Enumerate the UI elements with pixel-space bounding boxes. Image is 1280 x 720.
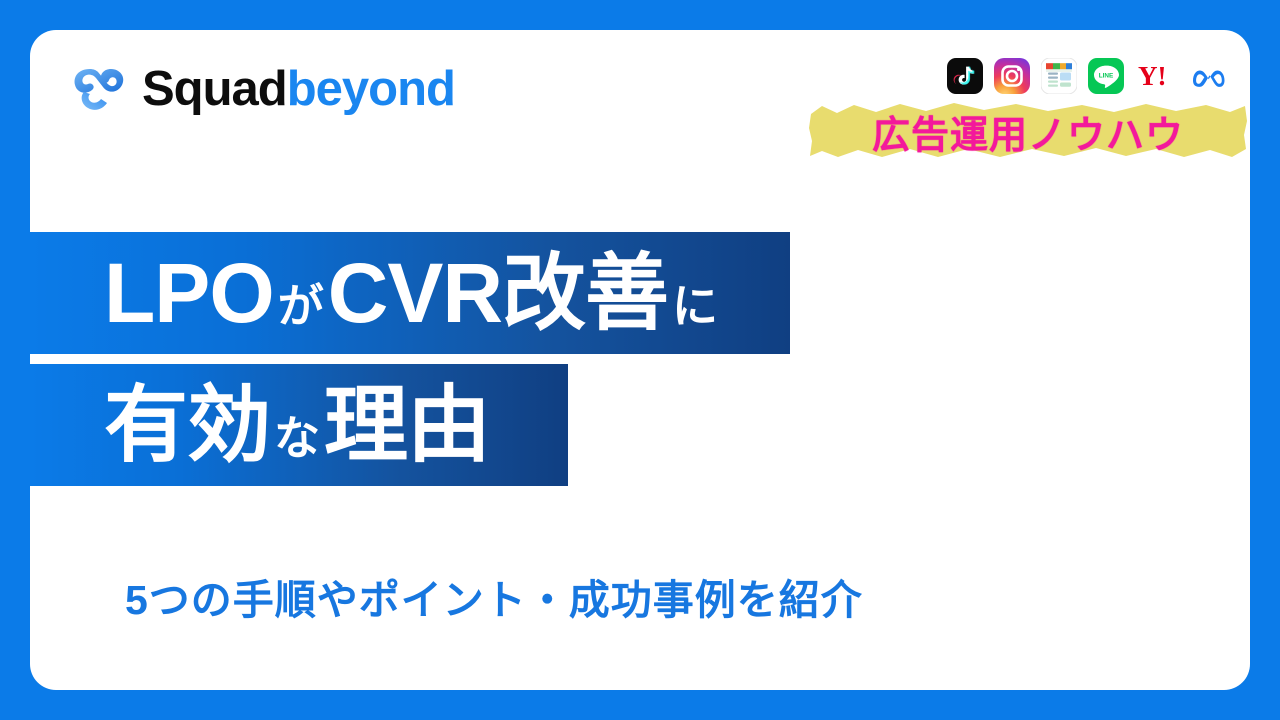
headline-line1-particle2: に <box>668 283 722 329</box>
yahoo-icon: Y! <box>1135 58 1177 94</box>
headline-line1-part2: CVR改善 <box>328 251 668 335</box>
svg-text:Y!: Y! <box>1138 61 1167 91</box>
subtitle-text: 5つの手順やポイント・成功事例を紹介 <box>125 566 863 626</box>
headline-bar-line1: LPO が CVR改善 に <box>30 232 790 354</box>
category-badge: 広告運用ノウハウ <box>808 101 1248 161</box>
logo-wordmark: Squadbeyond <box>142 65 455 114</box>
headline-line1-particle1: が <box>274 283 328 329</box>
headline-line1-part1: LPO <box>104 251 274 335</box>
brand-logo: Squadbeyond <box>70 58 455 120</box>
tiktok-icon <box>947 58 983 94</box>
line-icon: LINE <box>1088 58 1124 94</box>
badge-label: 広告運用ノウハウ <box>808 101 1248 161</box>
headline-line2-particle1: な <box>270 415 324 461</box>
headline-bar-line2: 有効 な 理由 <box>30 364 568 486</box>
platform-icon-row: LINE Y! <box>947 58 1232 94</box>
svg-text:LINE: LINE <box>1099 73 1114 80</box>
logo-word-primary: Squad <box>142 62 287 116</box>
meta-icon <box>1188 58 1232 94</box>
logo-word-secondary: beyond <box>287 62 455 116</box>
smartnews-icon <box>1041 58 1077 94</box>
headline-line2-part1: 有効 <box>104 383 270 467</box>
squad-beyond-logo-mark <box>70 63 128 115</box>
instagram-icon <box>994 58 1030 94</box>
headline-line2-part2: 理由 <box>324 383 490 467</box>
